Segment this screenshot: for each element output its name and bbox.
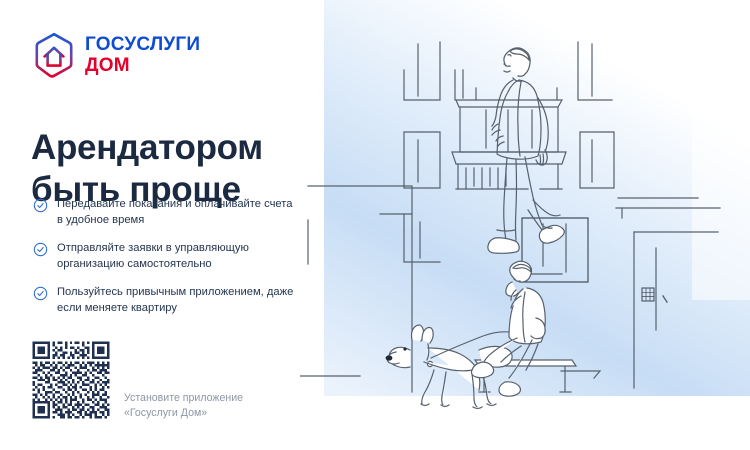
- qr-code-icon[interactable]: [30, 339, 112, 421]
- list-item: Пользуйтесь привычным приложением, даже …: [33, 285, 298, 317]
- list-item: Передавайте показания и оплачивайте счет…: [33, 197, 298, 229]
- list-item: Отправляйте заявки в управляющую организ…: [33, 241, 298, 273]
- promo-poster: ГОСУСЛУГИ ДОМ Арендатором быть проще Пер…: [0, 0, 750, 450]
- brand-logo[interactable]: ГОСУСЛУГИ ДОМ: [32, 31, 200, 79]
- list-item-label: Отправляйте заявки в управляющую организ…: [57, 241, 298, 273]
- check-circle-icon: [33, 242, 48, 257]
- list-item-line-1: Передавайте показания и оплачивайте: [57, 198, 261, 210]
- brand-word-gosuslugi: ГОСУСЛУГИ: [85, 35, 200, 54]
- brand-word-dom: ДОМ: [85, 56, 200, 75]
- check-circle-icon: [33, 286, 48, 301]
- list-item-label: Передавайте показания и оплачивайте счет…: [57, 197, 298, 229]
- illustration-city-courtyard: [300, 0, 750, 450]
- benefits-list: Передавайте показания и оплачивайте счет…: [33, 197, 298, 316]
- list-item-line-1: Отправляйте заявки в управляющую: [57, 242, 249, 254]
- install-caption-line-1: Установите приложение: [124, 391, 289, 406]
- list-item-line-2: организацию самостоятельно: [57, 258, 212, 270]
- install-app-caption: Установите приложение «Госуслуги Дом»: [124, 391, 289, 422]
- list-item-line-1: Пользуйтесь привычным приложением,: [57, 286, 264, 298]
- list-item-label: Пользуйтесь привычным приложением, даже …: [57, 285, 298, 317]
- headline-line-1: Арендатором: [31, 127, 301, 168]
- check-circle-icon: [33, 198, 48, 213]
- install-caption-line-2: «Госуслуги Дом»: [124, 406, 289, 421]
- gosuslugi-house-hexagon-icon: [32, 31, 76, 79]
- brand-wordmark: ГОСУСЛУГИ ДОМ: [85, 35, 200, 75]
